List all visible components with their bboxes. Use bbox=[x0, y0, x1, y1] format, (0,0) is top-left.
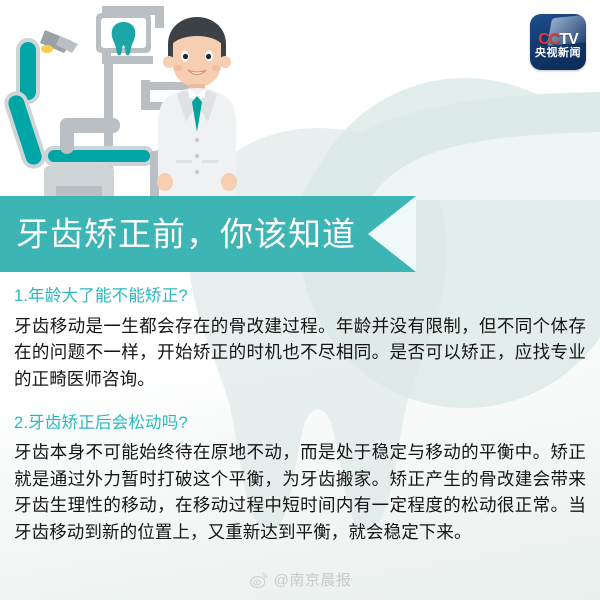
title-banner: 牙齿矫正前，你该知道 bbox=[0, 196, 416, 272]
qa-body: 牙齿移动是一生都会存在的骨改建过程。年龄并没有限制，但不同个体存在的问题不一样，… bbox=[14, 313, 586, 393]
watermark-text: @南京晨报 bbox=[274, 573, 352, 588]
qa-body: 牙齿本身不可能始终待在原地不动，而是处于稳定与移动的平衡中。矫正就是通过外力暂时… bbox=[14, 439, 586, 545]
qa-heading: 1.年龄大了能不能矫正? bbox=[14, 284, 586, 309]
cctv-wordmark: CCTV bbox=[530, 32, 586, 48]
qa-item: 2.牙齿矫正后会松动吗? 牙齿本身不可能始终待在原地不动，而是处于稳定与移动的平… bbox=[14, 411, 586, 546]
cctv-mark-tv: TV bbox=[559, 31, 577, 48]
page-title: 牙齿矫正前，你该知道 bbox=[16, 218, 356, 251]
cctv-mark-cc: CC bbox=[538, 31, 559, 48]
cctv-news-logo: CCTV 央视新闻 bbox=[530, 14, 586, 70]
qa-heading: 2.牙齿矫正后会松动吗? bbox=[14, 411, 586, 436]
banner-chevron-icon bbox=[368, 196, 416, 272]
qa-item: 1.年龄大了能不能矫正? 牙齿移动是一生都会存在的骨改建过程。年龄并没有限制，但… bbox=[14, 284, 586, 393]
qa-content: 1.年龄大了能不能矫正? 牙齿移动是一生都会存在的骨改建过程。年龄并没有限制，但… bbox=[14, 284, 586, 564]
weibo-watermark: @南京晨报 bbox=[0, 570, 600, 590]
cctv-subtitle: 央视新闻 bbox=[530, 48, 586, 59]
poster-root: CCTV 央视新闻 牙齿矫正前，你该知道 1.年龄大了能不能矫正? 牙齿移动是一… bbox=[0, 0, 600, 600]
weibo-icon bbox=[249, 570, 269, 590]
dentist-office-illustration bbox=[0, 0, 600, 200]
